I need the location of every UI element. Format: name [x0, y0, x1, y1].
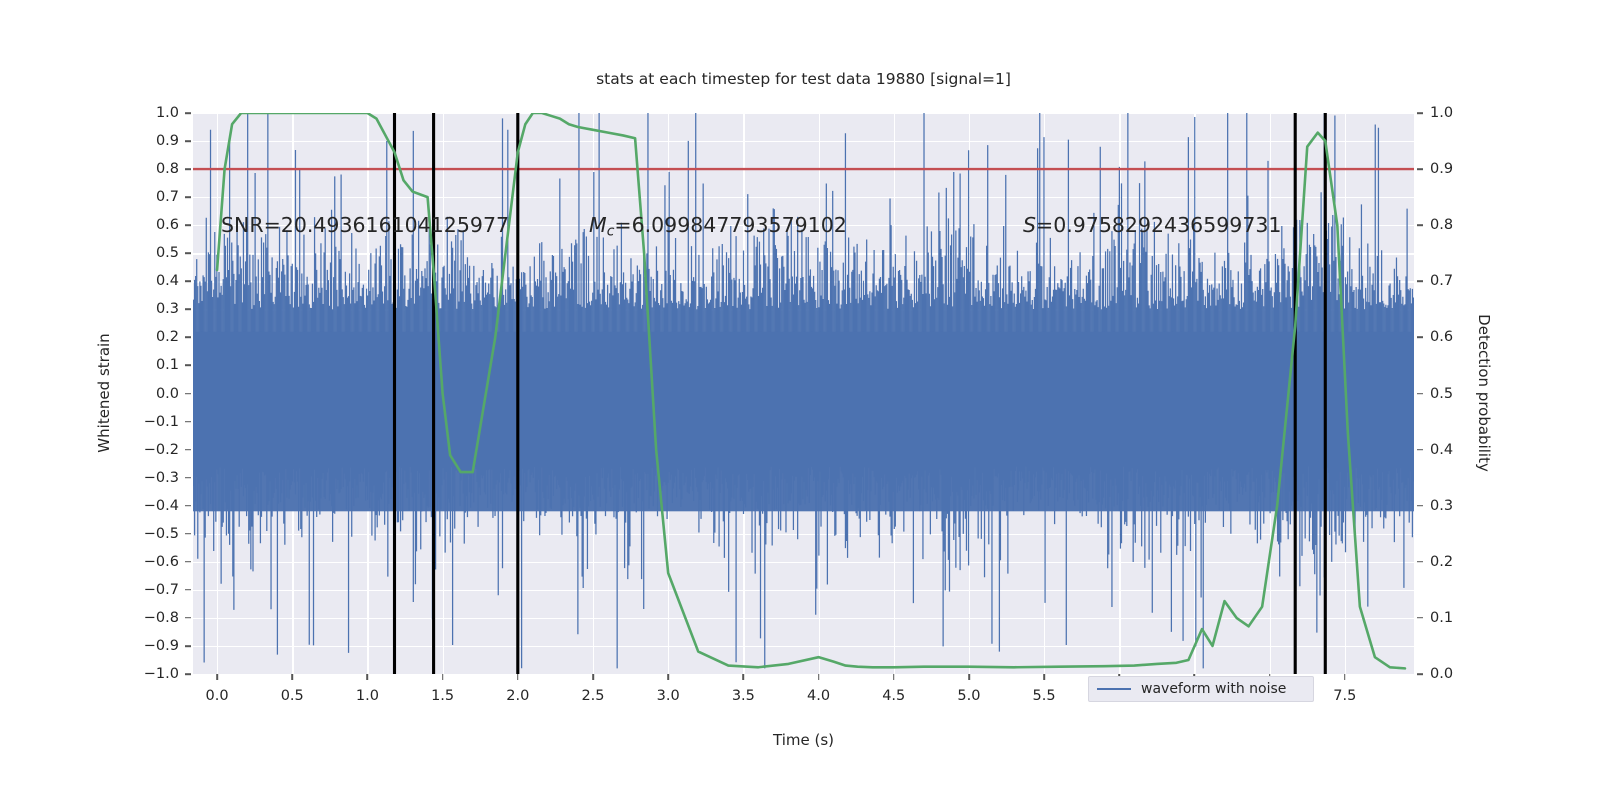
x-tick-label: 7.5 [1315, 688, 1375, 704]
y-tick-label-left: −0.5 [131, 526, 179, 542]
x-tick-mark [367, 674, 369, 680]
y-tick-label-right: 0.6 [1430, 329, 1478, 345]
y-tick-mark-right [1417, 393, 1423, 395]
x-axis-label: Time (s) [193, 731, 1414, 749]
y-tick-label-right: 0.4 [1430, 442, 1478, 458]
y-tick-mark-left [185, 196, 191, 198]
y-tick-label-left: −0.4 [131, 498, 179, 514]
x-tick-label: 0.0 [187, 688, 247, 704]
y-tick-label-right: 0.7 [1430, 273, 1478, 289]
y-tick-label-left: −1.0 [131, 666, 179, 682]
overlay-series [193, 113, 1414, 674]
annotation-snr: SNR=20.493616104125977 [221, 213, 509, 237]
y-tick-mark-right [1417, 673, 1423, 675]
y-tick-mark-left [185, 168, 191, 170]
annotation-mc-symbol: M [589, 213, 607, 237]
y-tick-mark-left [185, 224, 191, 226]
y-tick-mark-right [1417, 617, 1423, 619]
y-tick-label-right: 0.2 [1430, 554, 1478, 570]
y-axis-label-left: Whitened strain [95, 333, 113, 452]
annotation-mc-value: 6.099847793579102 [632, 213, 847, 237]
x-tick-mark [818, 674, 820, 680]
legend-label-waveform: waveform with noise [1141, 681, 1286, 697]
y-tick-label-left: −0.6 [131, 554, 179, 570]
y-tick-mark-left [185, 337, 191, 339]
plot-area: SNR=20.493616104125977 Mc=6.099847793579… [193, 113, 1414, 674]
y-tick-mark-left [185, 561, 191, 563]
annotation-s-equals: = [1036, 213, 1053, 237]
y-tick-label-left: 0.5 [131, 245, 179, 261]
x-tick-mark [1043, 674, 1045, 680]
y-tick-mark-left [185, 673, 191, 675]
y-tick-label-left: −0.1 [131, 414, 179, 430]
y-tick-mark-left [185, 477, 191, 479]
y-tick-mark-left [185, 449, 191, 451]
y-tick-mark-left [185, 252, 191, 254]
y-tick-mark-right [1417, 561, 1423, 563]
y-tick-mark-right [1417, 505, 1423, 507]
y-tick-label-left: 0.4 [131, 273, 179, 289]
x-tick-label: 0.5 [262, 688, 322, 704]
y-tick-label-left: −0.7 [131, 582, 179, 598]
annotation-chirp-mass: Mc=6.099847793579102 [589, 213, 847, 240]
x-tick-mark [442, 674, 444, 680]
x-tick-label: 3.5 [713, 688, 773, 704]
y-tick-label-left: 0.6 [131, 217, 179, 233]
x-tick-mark [517, 674, 519, 680]
legend-line-swatch [1097, 688, 1131, 690]
y-tick-label-right: 0.5 [1430, 386, 1478, 402]
y-tick-mark-left [185, 421, 191, 423]
y-tick-label-left: −0.9 [131, 638, 179, 654]
x-tick-label: 1.5 [413, 688, 473, 704]
y-tick-label-left: −0.2 [131, 442, 179, 458]
annotation-snr-prefix: SNR= [221, 213, 281, 237]
page-title: stats at each timestep for test data 198… [193, 70, 1414, 88]
x-tick-mark [968, 674, 970, 680]
y-tick-label-right: 0.0 [1430, 666, 1478, 682]
annotation-score: S=0.9758292436599731 [1023, 213, 1281, 237]
y-tick-label-left: 0.2 [131, 329, 179, 345]
y-tick-mark-right [1417, 281, 1423, 283]
legend[interactable]: waveform with noise [1088, 676, 1314, 702]
y-tick-mark-left [185, 617, 191, 619]
y-tick-label-left: −0.3 [131, 470, 179, 486]
y-tick-label-left: 0.7 [131, 189, 179, 205]
x-tick-label: 2.5 [563, 688, 623, 704]
y-tick-mark-right [1417, 224, 1423, 226]
x-tick-label: 5.0 [939, 688, 999, 704]
x-tick-mark [216, 674, 218, 680]
y-tick-mark-right [1417, 337, 1423, 339]
x-tick-mark [667, 674, 669, 680]
x-tick-mark [592, 674, 594, 680]
y-tick-mark-left [185, 505, 191, 507]
y-tick-mark-left [185, 393, 191, 395]
y-tick-label-left: 0.0 [131, 386, 179, 402]
y-tick-label-right: 1.0 [1430, 105, 1478, 121]
event-marker-lines [395, 113, 1326, 674]
x-tick-label: 4.5 [864, 688, 924, 704]
y-tick-mark-left [185, 281, 191, 283]
y-tick-label-right: 0.9 [1430, 161, 1478, 177]
y-tick-label-right: 0.8 [1430, 217, 1478, 233]
y-tick-label-left: 0.1 [131, 357, 179, 373]
y-tick-mark-left [185, 589, 191, 591]
y-tick-label-right: 0.1 [1430, 610, 1478, 626]
y-tick-label-left: −0.8 [131, 610, 179, 626]
y-tick-label-left: 0.3 [131, 301, 179, 317]
y-tick-mark-left [185, 140, 191, 142]
annotation-mc-equals: = [614, 213, 631, 237]
annotation-s-value: 0.9758292436599731 [1053, 213, 1281, 237]
y-tick-label-left: 0.8 [131, 161, 179, 177]
y-tick-mark-left [185, 309, 191, 311]
figure-canvas: stats at each timestep for test data 198… [0, 0, 1600, 800]
y-tick-mark-left [185, 365, 191, 367]
y-tick-label-left: 0.9 [131, 133, 179, 149]
x-tick-label: 4.0 [789, 688, 849, 704]
x-tick-mark [893, 674, 895, 680]
y-tick-mark-right [1417, 449, 1423, 451]
x-tick-label: 5.5 [1014, 688, 1074, 704]
y-tick-mark-right [1417, 112, 1423, 114]
y-tick-label-left: 1.0 [131, 105, 179, 121]
x-tick-label: 2.0 [488, 688, 548, 704]
x-tick-mark [291, 674, 293, 680]
x-tick-mark [1344, 674, 1346, 680]
annotation-snr-value: 20.493616104125977 [281, 213, 509, 237]
y-tick-mark-right [1417, 168, 1423, 170]
annotation-s-symbol: S [1023, 213, 1036, 237]
y-tick-mark-left [185, 112, 191, 114]
x-tick-mark [743, 674, 745, 680]
y-tick-mark-left [185, 533, 191, 535]
x-tick-label: 1.0 [337, 688, 397, 704]
x-tick-label: 3.0 [638, 688, 698, 704]
y-tick-mark-left [185, 645, 191, 647]
y-tick-label-right: 0.3 [1430, 498, 1478, 514]
